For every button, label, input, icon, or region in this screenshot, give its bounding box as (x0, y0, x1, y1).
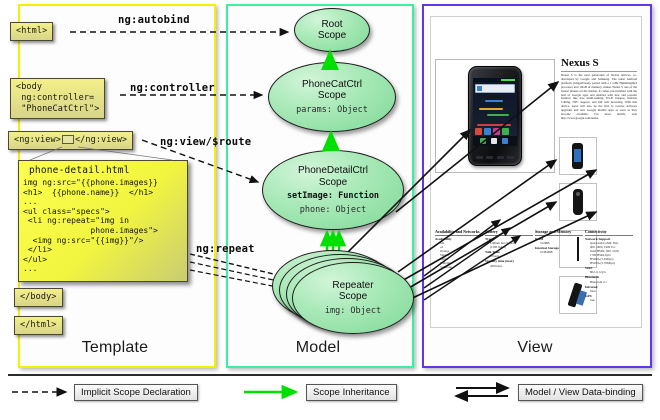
scope-repeater: Repeater Scope img: Object (292, 262, 414, 334)
phone-button-search (497, 156, 504, 159)
spec-value: HSUPA (5.76Mbps) (585, 261, 633, 265)
phone-button-back (476, 156, 483, 159)
legend-item-data-binding: Model / View Data-binding (452, 383, 643, 401)
spec-value: true (585, 298, 633, 302)
scope-root-title-2: Scope (318, 30, 346, 42)
spec-column-availability: Availability and Networks Availability M… (435, 229, 483, 302)
phone-searchbar (475, 84, 515, 93)
dock-icon-browser (502, 138, 508, 144)
phone-screen-line-blue (485, 100, 503, 102)
phone-hero-image-frame (435, 59, 555, 173)
phone-screen-line-red (477, 124, 511, 126)
app-icon-2 (484, 128, 491, 135)
app-icon-3 (493, 128, 500, 135)
spec-value: 16384MB (535, 250, 583, 254)
scope-phonecatctrl: PhoneCatCtrl Scope params: Object (268, 62, 396, 132)
label-ng-view-route: ng:view/$route (160, 136, 251, 148)
ngview-open-label: <ng:view> (14, 135, 61, 145)
spec-heading-storage: Storage and Memory (535, 229, 583, 236)
dock-icon-apps (491, 138, 497, 144)
spec-value: 428 hours (485, 264, 533, 268)
phone-screen-line-orange (479, 108, 503, 110)
label-ng-repeat: ng:repeat (196, 243, 255, 255)
scope-phonecatctrl-title-2: Scope (318, 90, 346, 102)
ngview-close-label: </ng:view> (75, 135, 127, 145)
label-ng-autobind: ng:autobind (118, 14, 190, 26)
tag-ngview: <ng:view></ng:view> (8, 131, 133, 150)
panel-label-template: Template (18, 339, 212, 357)
product-title-rule (561, 71, 637, 72)
phone-app-icons (475, 128, 515, 135)
spec-column-battery: Battery Type Lithium Ion (Li-Ion) (1500 … (485, 229, 533, 302)
phone-button-home (507, 156, 514, 159)
spec-value: 512MB (535, 241, 583, 245)
spec-value: Bluetooth 2.1 (585, 280, 633, 284)
spec-column-connectivity: Connectivity Network Support Quad-band G… (585, 229, 633, 302)
tag-html-close: </html> (14, 316, 63, 335)
scope-repeater-title-2: Scope (339, 291, 367, 303)
phone-button-menu (486, 156, 493, 159)
scope-phonecatctrl-prop-params: params: Object (296, 105, 368, 116)
legend-divider (8, 374, 652, 376)
panel-label-model: Model (226, 339, 410, 357)
spec-table: Availability and Networks Availability M… (435, 229, 637, 302)
ngview-slot-icon (62, 135, 74, 144)
diagram-canvas: <html> <body ng:controller= "PhoneCatCtr… (0, 0, 660, 420)
scope-root: Root Scope (294, 8, 370, 52)
thumbnail-phone-front[interactable] (559, 137, 597, 175)
phone-screen-line-green (487, 114, 509, 116)
tag-body-close: </body> (14, 288, 63, 307)
legend-gfx-dashed (8, 384, 70, 400)
legend-item-implicit-scope: Implicit Scope Declaration (8, 383, 198, 401)
legend-item-scope-inheritance: Scope Inheritance (240, 383, 397, 401)
tag-body-open: <body ng:controller= "PhoneCatCtrl"> (10, 78, 105, 119)
view-rendered-page: Nexus S Nexus S is the next generation o… (430, 16, 642, 328)
phone-hardware-buttons (474, 156, 516, 162)
spec-column-storage: Storage and Memory RAM 512MB Internal St… (535, 229, 583, 302)
scope-repeater-prop-img: img: Object (325, 306, 381, 317)
spec-value: Vodafone (435, 265, 483, 269)
product-title: Nexus S (561, 57, 599, 69)
panel-label-view: View (422, 339, 648, 357)
code-note-phone-detail: phone-detail.html img ng:src="{{phone.im… (18, 160, 188, 282)
phone-dock (473, 136, 517, 146)
legend-label-data-binding: Model / View Data-binding (518, 384, 643, 401)
app-icon-1 (475, 128, 482, 135)
spec-heading-battery: Battery (485, 229, 533, 236)
app-icon-4 (502, 128, 509, 135)
scope-phonedetailctrl-title-1: PhoneDetailCtrl (298, 165, 368, 177)
scope-phonedetailctrl-title-2: Scope (319, 177, 347, 189)
spec-value: (1500 mAH) (485, 245, 533, 249)
thumbnail-phone-back[interactable] (559, 183, 597, 221)
legend-label-implicit-scope: Implicit Scope Declaration (74, 384, 198, 401)
phone-device-illustration (468, 66, 522, 166)
product-description: Nexus S is the next generation of Nexus … (561, 74, 637, 121)
scope-phonedetailctrl: PhoneDetailCtrl Scope setImage: Function… (262, 150, 404, 230)
spec-value: 6 hours (485, 254, 533, 258)
spec-heading-availability: Availability and Networks (435, 229, 483, 236)
spec-value: 802.11 b/g/n (585, 270, 633, 274)
legend-gfx-double (452, 384, 514, 400)
code-note-filename: phone-detail.html (19, 161, 187, 178)
spec-heading-connectivity: Connectivity (585, 229, 633, 236)
tag-html-open: <html> (10, 22, 53, 41)
label-ng-controller: ng:controller (130, 82, 215, 94)
phone-statusbar (473, 78, 517, 82)
spec-value: false (585, 289, 633, 293)
phone-screen (473, 78, 517, 146)
code-note-body: img ng:src="{{phone.images}} <h1> {{phon… (19, 178, 187, 274)
scope-phonedetailctrl-prop-setimage: setImage: Function (287, 191, 379, 202)
scope-phonecatctrl-title-1: PhoneCatCtrl (302, 79, 362, 91)
legend-gfx-green (240, 384, 302, 400)
scope-phonedetailctrl-prop-phone: phone: Object (300, 205, 367, 216)
scope-root-title-1: Root (321, 19, 342, 31)
dock-icon-phone (480, 138, 486, 144)
scope-repeater-title-1: Repeater (332, 280, 373, 292)
legend-label-scope-inheritance: Scope Inheritance (306, 384, 397, 401)
